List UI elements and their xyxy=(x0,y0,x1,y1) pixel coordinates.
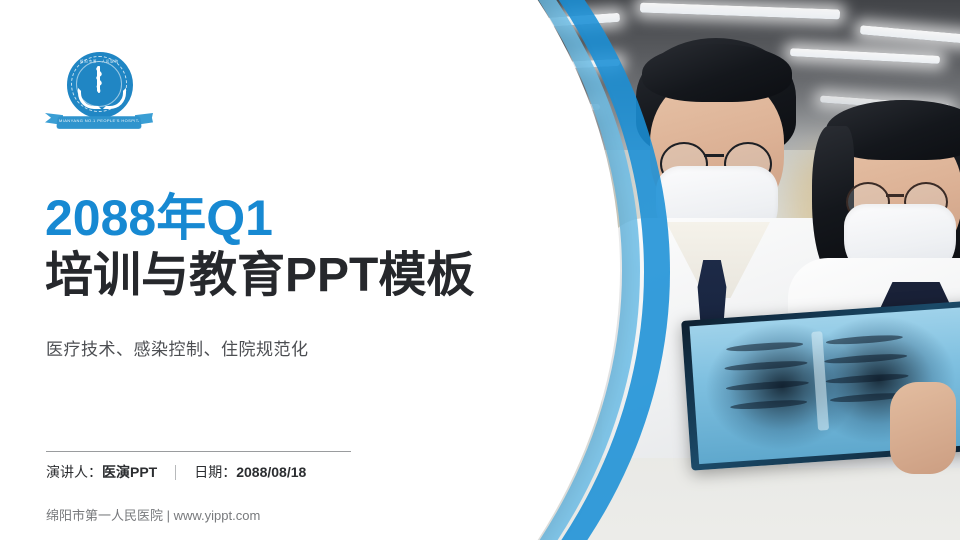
title-line-2: 培训与教育PPT模板 xyxy=(45,249,515,303)
emblem-ring-text-value: 绵 阳 市 第 一 人 民 医 院 xyxy=(80,59,118,64)
page-title: 2088年Q1 培训与教育PPT模板 xyxy=(45,192,515,303)
xray-rib xyxy=(824,353,907,366)
female-doctor-hand xyxy=(890,382,956,474)
xray-rib xyxy=(725,360,808,373)
xray-rib xyxy=(730,398,807,410)
female-doctor-glasses-bridge xyxy=(886,194,904,197)
presenter-meta: 演讲人： 医演PPT 日期： 2088/08/18 xyxy=(46,462,306,482)
speaker-value: 医演PPT xyxy=(102,462,157,482)
title-line-1: 2088年Q1 xyxy=(45,192,515,245)
source-line: 绵阳市第一人民医院 | www.yippt.com xyxy=(46,505,260,524)
date-value: 2088/08/18 xyxy=(236,464,306,480)
male-doctor-fringe xyxy=(642,44,792,102)
xray-rib xyxy=(826,334,903,346)
date-label: 日期： xyxy=(194,462,236,482)
hospital-emblem-icon: 绵 阳 市 第 一 人 民 医 院 MIANYANG NO.1 PEOPLE'S… xyxy=(45,52,153,140)
xray-rib xyxy=(826,372,909,385)
footer-divider xyxy=(46,451,351,452)
text-content-area: 绵 阳 市 第 一 人 民 医 院 MIANYANG NO.1 PEOPLE'S… xyxy=(0,0,420,540)
ribbon-text: MIANYANG NO.1 PEOPLE'S HOSPITAL xyxy=(59,118,139,123)
meta-separator xyxy=(175,465,176,480)
xray-rib xyxy=(726,341,803,353)
male-doctor-glasses-bridge xyxy=(704,154,724,157)
slide-canvas: 绵 阳 市 第 一 人 民 医 院 MIANYANG NO.1 PEOPLE'S… xyxy=(0,0,960,540)
xray-rib xyxy=(726,379,809,392)
emblem-ribbon-banner: MIANYANG NO.1 PEOPLE'S HOSPITAL xyxy=(45,112,153,134)
subtitle-text: 医疗技术、感染控制、住院规范化 xyxy=(46,335,309,360)
speaker-label: 演讲人： xyxy=(46,462,102,482)
